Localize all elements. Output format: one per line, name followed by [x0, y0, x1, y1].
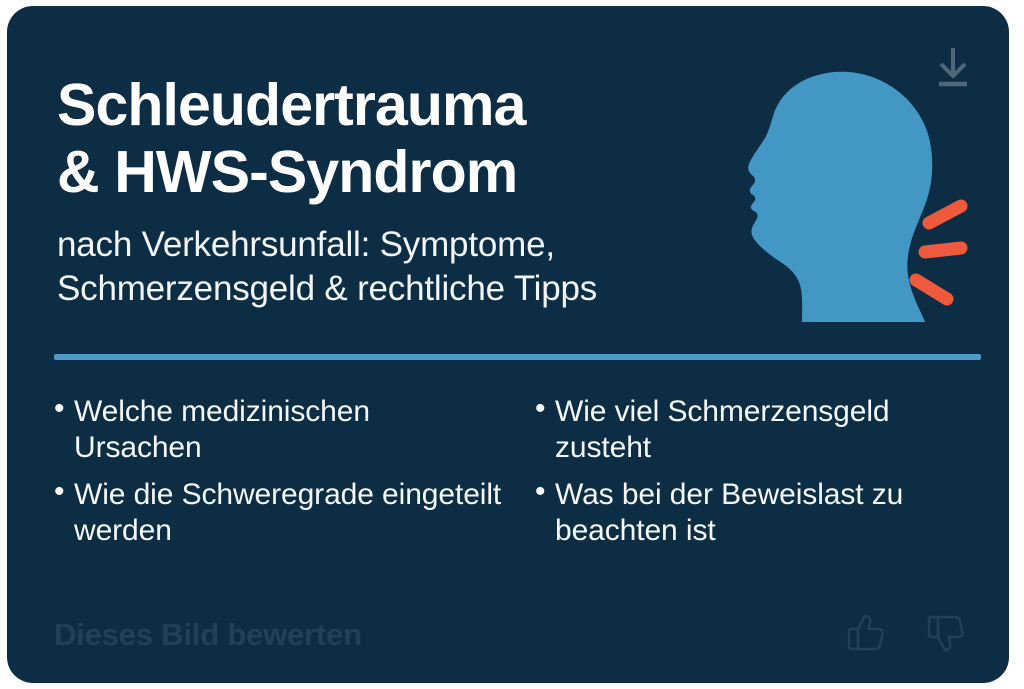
pain-lines — [916, 206, 961, 299]
thumbs-up-icon[interactable] — [845, 612, 887, 654]
list-item: • Welche medizinischen Ursachen — [54, 394, 503, 465]
headline-block: Schleudertrauma & HWS-Syndrom nach Verke… — [57, 72, 717, 311]
head-illustration-glyph — [707, 56, 997, 346]
info-card: Schleudertrauma & HWS-Syndrom nach Verke… — [7, 6, 1009, 683]
bullet-dot-icon: • — [54, 476, 74, 508]
thumbs-down-glyph — [925, 612, 967, 654]
list-item: • Wie viel Schmerzensgeld zusteht — [535, 394, 984, 465]
bullet-dot-icon: • — [535, 393, 555, 425]
screenshot-root: Schleudertrauma & HWS-Syndrom nach Verke… — [0, 0, 1024, 689]
bullet-dot-icon: • — [54, 393, 74, 425]
list-item-label: Wie die Schweregrade eingeteilt werden — [74, 477, 503, 548]
page-subtitle-line-1: nach Verkehrsunfall: Symptome, — [57, 223, 717, 267]
list-item-label: Wie viel Schmerzensgeld zusteht — [555, 394, 984, 465]
list-item-label: Was bei der Beweislast zu beachten ist — [555, 477, 984, 548]
section-divider — [54, 354, 981, 360]
page-subtitle: nach Verkehrsunfall: Symptome, Schmerzen… — [57, 223, 717, 312]
list-item: • Was bei der Beweislast zu beachten ist — [535, 477, 984, 548]
rating-controls — [845, 612, 967, 654]
thumbs-up-glyph — [845, 612, 887, 654]
rate-image-label[interactable]: Dieses Bild bewerten — [54, 617, 362, 653]
bullet-dot-icon: • — [535, 476, 555, 508]
head-silhouette-shape — [748, 72, 932, 322]
thumbs-down-icon[interactable] — [925, 612, 967, 654]
bullet-list: • Welche medizinischen Ursachen • Wie di… — [54, 394, 984, 626]
page-title-line-1: Schleudertrauma — [57, 72, 717, 139]
page-title-line-2: & HWS-Syndrom — [57, 139, 717, 206]
head-neck-pain-illustration — [707, 56, 997, 346]
list-item-label: Welche medizinischen Ursachen — [74, 394, 503, 465]
list-item: • Wie die Schweregrade eingeteilt werden — [54, 477, 503, 548]
page-subtitle-line-2: Schmerzensgeld & rechtliche Tipps — [57, 267, 717, 311]
